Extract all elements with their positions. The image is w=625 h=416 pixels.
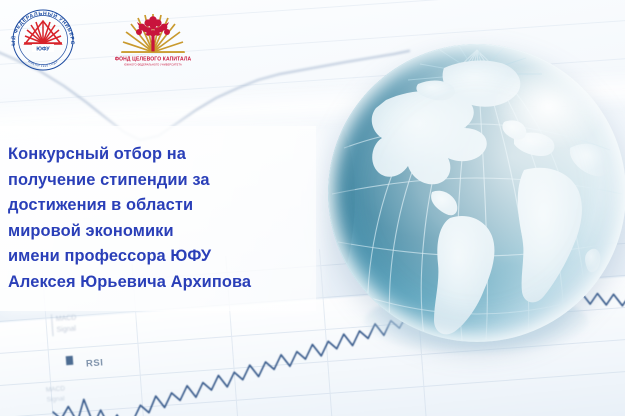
frosted-glass-globe (328, 44, 625, 342)
fund-logo-line1: ФОНД ЦЕЛЕВОГО КАПИТАЛА (115, 56, 191, 62)
endowment-fund-logo-icon: ФОНД ЦЕЛЕВОГО КАПИТАЛА ЮЖНОГО ФЕДЕРАЛЬНО… (115, 10, 191, 72)
svg-text:MACD: MACD (46, 385, 66, 393)
fund-logo-line2: ЮЖНОГО ФЕДЕРАЛЬНОГО УНИВЕРСИТЕТА (124, 63, 182, 67)
endowment-fund-logo: ФОНД ЦЕЛЕВОГО КАПИТАЛА ЮЖНОГО ФЕДЕРАЛЬНО… (115, 10, 191, 72)
rsi-chart-label: RSI (86, 357, 104, 369)
rsi-marker (66, 356, 74, 365)
globe-specular-highlight (489, 62, 608, 151)
svg-text:ЮФУ: ЮФУ (36, 47, 50, 53)
svg-text:ИМЕНИ 1915 ГОДА: ИМЕНИ 1915 ГОДА (27, 59, 58, 68)
title-line-2: получение стипендии за (8, 168, 314, 194)
title-line-6: Алексея Юрьевича Архипова (8, 270, 314, 296)
globe-illustration (328, 44, 625, 342)
title-line-5: имени профессора ЮФУ (8, 244, 314, 270)
sfu-logo: ЮЖНЫЙ ФЕДЕРАЛЬНЫЙ УНИВЕРСИТЕТ ИМЕНИ 1915… (6, 6, 80, 74)
title-line-1: Конкурсный отбор на (8, 142, 314, 168)
sfu-logo-icon: ЮЖНЫЙ ФЕДЕРАЛЬНЫЙ УНИВЕРСИТЕТ ИМЕНИ 1915… (6, 6, 80, 74)
svg-text:Signal: Signal (56, 325, 76, 333)
svg-text:Signal: Signal (46, 395, 65, 403)
banner-image: RSI MACD Signal MACD Signal (0, 0, 625, 416)
title-line-3: достижения в области (8, 193, 314, 219)
svg-text:MACD: MACD (56, 314, 77, 322)
banner-title: Конкурсный отбор на получение стипендии … (8, 142, 314, 295)
title-line-4: мировой экономики (8, 219, 314, 245)
